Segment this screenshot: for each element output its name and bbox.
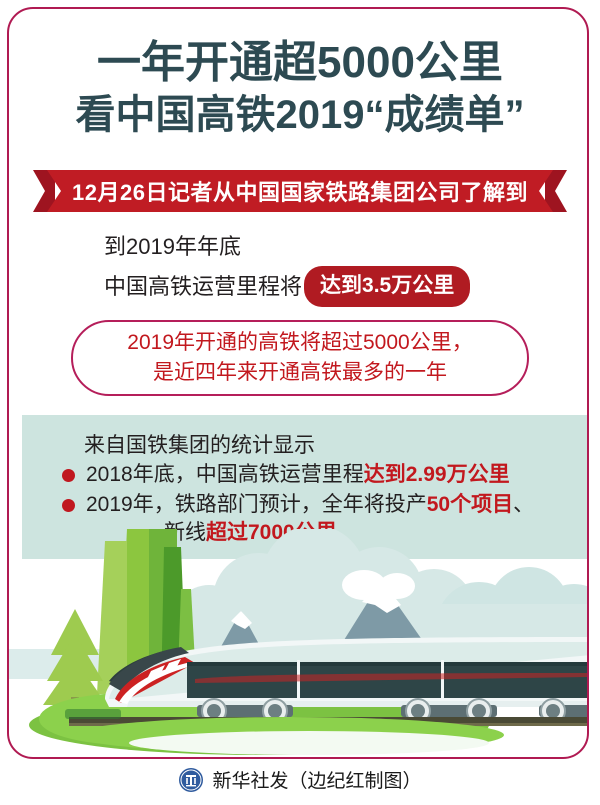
highlight-line-2: 是近四年来开通高铁最多的一年 [153,358,447,388]
poster-frame: 一年开通超5000公里 看中国高铁2019“成绩单” 12月26日记者从中国国家… [7,7,589,759]
ribbon-banner: 12月26日记者从中国国家铁路集团公司了解到 [33,170,567,212]
train-illustration [9,529,589,759]
list-item: 2018年底，中国高铁运营里程达到2.99万公里 [62,461,589,489]
title-line-1: 一年开通超5000公里 [9,37,589,89]
title-line-2: 看中国高铁2019“成绩单” [9,92,589,139]
bullet-dot-icon [62,469,75,482]
statement-line-2-text: 中国高铁运营里程将 [104,271,302,303]
footer-credit: 新华社发（边纪红制图） [0,766,600,793]
stat-text-plain: 2018年底，中国高铁运营里程 [86,463,364,486]
ribbon-text: 12月26日记者从中国国家铁路集团公司了解到 [72,175,528,207]
ribbon-body: 12月26日记者从中国国家铁路集团公司了解到 [47,170,553,212]
statement-block: 到2019年年底 中国高铁运营里程将 达到3.5万公里 [9,231,589,307]
stat-text-strong: 50个项目 [427,493,513,516]
stats-heading: 来自国铁集团的统计显示 [84,429,589,459]
stat-text-strong: 达到2.99万公里 [364,463,510,486]
statement-line-1: 到2019年年底 [104,231,589,263]
stat-text-plain-2: 、 [513,493,534,516]
highlight-callout: 2019年开通的高铁将超过5000公里， 是近四年来开通高铁最多的一年 [71,320,529,396]
highlight-line-1: 2019年开通的高铁将超过5000公里， [127,328,472,358]
infographic-poster: 一年开通超5000公里 看中国高铁2019“成绩单” 12月26日记者从中国国家… [0,0,600,805]
stat-text-plain: 2019年，铁路部门预计，全年将投产 [86,493,427,516]
statement-line-2: 中国高铁运营里程将 达到3.5万公里 [104,266,589,307]
credit-text: 新华社发（边纪红制图） [212,766,421,793]
mileage-badge: 达到3.5万公里 [304,266,470,307]
bullet-dot-icon [62,499,75,512]
xinhua-seal-icon [178,767,204,793]
poster-title: 一年开通超5000公里 看中国高铁2019“成绩单” [9,37,589,139]
